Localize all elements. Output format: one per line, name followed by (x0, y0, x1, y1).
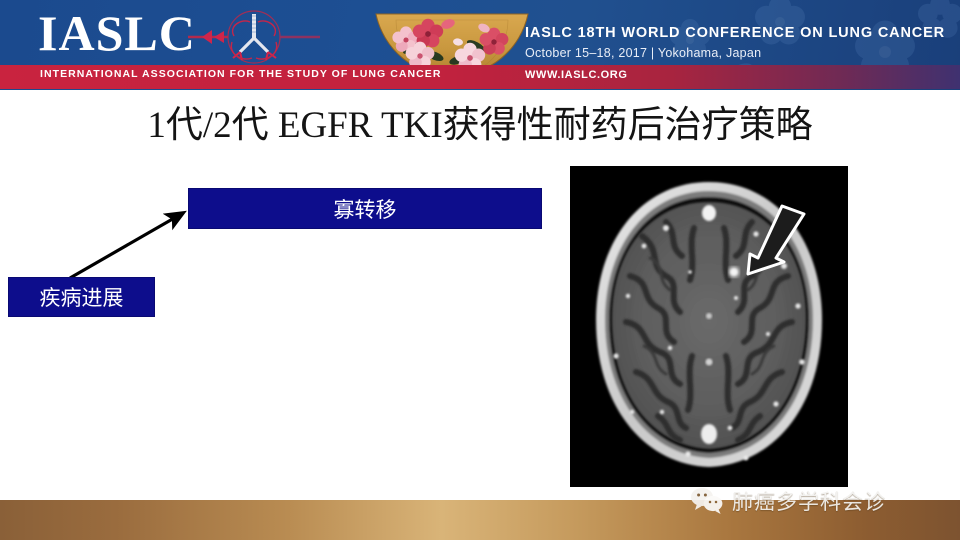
lung-logo-icon (188, 8, 320, 66)
presentation-slide: IASLC INTERNATIONAL ASSOCIATION FOR THE … (0, 0, 960, 540)
conference-dates: October 15–18, 2017 | Yokohama, Japan (525, 46, 761, 60)
flow-arrow-icon (55, 195, 205, 290)
watermark-label: 肺癌多学科会诊 (732, 486, 886, 516)
slide-title: 1代/2代 EGFR TKI获得性耐药后治疗策略 (0, 103, 960, 149)
iaslc-wordmark: IASLC (38, 6, 196, 60)
conference-website: WWW.IASLC.ORG (525, 69, 628, 81)
iaslc-tagline: INTERNATIONAL ASSOCIATION FOR THE STUDY … (40, 68, 441, 80)
conference-title: IASLC 18TH WORLD CONFERENCE ON LUNG CANC… (525, 25, 945, 41)
watermark: 肺癌多学科会诊 (690, 484, 886, 518)
diagram-box-oligometastasis: 寡转移 (188, 188, 542, 229)
conference-banner: IASLC INTERNATIONAL ASSOCIATION FOR THE … (0, 0, 960, 90)
brain-mri-image (570, 166, 848, 487)
wechat-icon (690, 487, 724, 515)
diagram-box-disease-progression: 疾病进展 (8, 277, 155, 317)
